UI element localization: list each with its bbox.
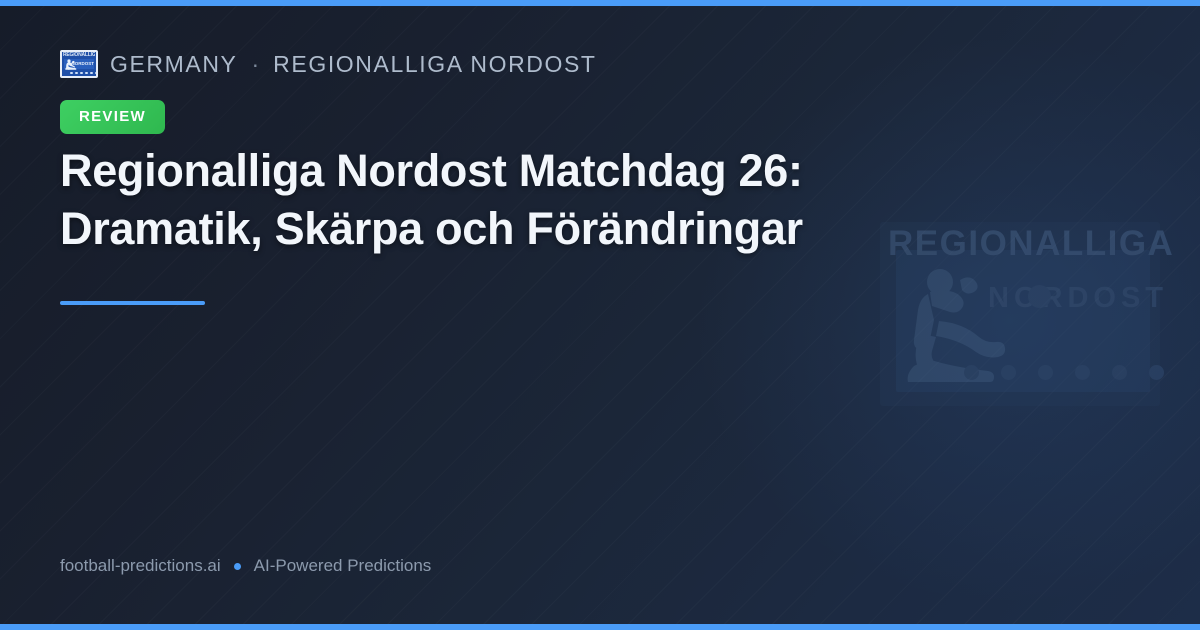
logo-icon-dot-row — [70, 72, 98, 75]
page-title: Regionalliga Nordost Matchdag 26: Dramat… — [60, 142, 990, 257]
logo-icon-dot — [80, 72, 83, 75]
logo-icon-dot — [90, 72, 93, 75]
watermark-dot — [1001, 365, 1016, 380]
breadcrumb-country[interactable]: GERMANY — [110, 51, 238, 78]
footer: football-predictions.ai AI-Powered Predi… — [60, 556, 431, 576]
footer-site-name[interactable]: football-predictions.ai — [60, 556, 221, 576]
breadcrumb-separator: · — [250, 51, 262, 78]
logo-icon-dot — [75, 72, 78, 75]
logo-icon-top-text: REGIONALLIGA — [63, 52, 95, 59]
watermark-dot — [1038, 365, 1053, 380]
regionalliga-nordost-logo-icon: REGIONALLIGA NORDOST — [60, 50, 98, 78]
breadcrumb: REGIONALLIGA NORDOST — [60, 46, 597, 82]
status-badge: REVIEW — [60, 100, 165, 134]
watermark-dot — [1075, 365, 1090, 380]
bullet-dot-icon — [234, 563, 241, 570]
breadcrumb-league[interactable]: REGIONALLIGA NORDOST — [273, 51, 596, 78]
logo-icon-dot — [85, 72, 88, 75]
logo-icon-dot — [95, 72, 98, 75]
logo-icon-bottom-text: NORDOST — [72, 59, 95, 69]
watermark-nordost-text: NORDOST — [988, 284, 1168, 313]
logo-icon-dot — [70, 72, 73, 75]
football-icon — [1028, 285, 1051, 308]
title-accent-underline — [60, 301, 205, 305]
watermark-dot — [1149, 365, 1164, 380]
footer-tagline: AI-Powered Predictions — [254, 556, 432, 576]
social-preview-card: REGIONALLIGA NORDOST — [0, 0, 1200, 630]
watermark-dot — [1112, 365, 1127, 380]
content-area: REGIONALLIGA NORDOST — [60, 0, 1000, 630]
